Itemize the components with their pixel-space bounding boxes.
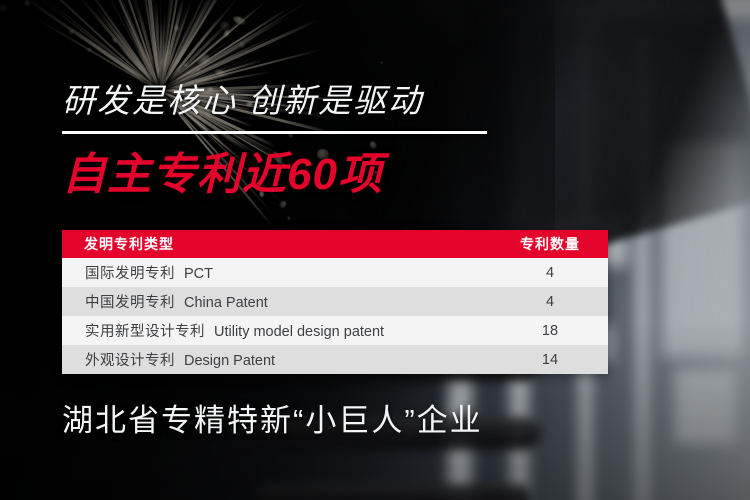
banner-subline: 自主专利近60项	[62, 148, 383, 202]
cell-patent-count: 4	[492, 294, 608, 310]
column-header-patent-count: 专利数量	[492, 234, 608, 254]
banner-headline: 研发是核心 创新是驱动	[62, 81, 423, 121]
patent-type-en: PCT	[184, 266, 213, 282]
patent-table-header-row: 发明专利类型 专利数量	[62, 230, 608, 258]
banner-stage: 研发是核心 创新是驱动 自主专利近60项 发明专利类型 专利数量 国际发明专利P…	[0, 0, 750, 500]
cell-patent-type: 外观设计专利Design Patent	[62, 349, 492, 370]
table-row: 国际发明专利PCT4	[62, 258, 608, 287]
patent-type-cn: 中国发明专利	[85, 295, 175, 311]
cell-patent-count: 18	[492, 323, 608, 339]
banner-tagline: 湖北省专精特新“小巨人”企业	[62, 401, 483, 441]
cell-patent-type: 中国发明专利China Patent	[62, 291, 492, 312]
column-header-patent-type: 发明专利类型	[62, 234, 492, 254]
patent-table-body: 国际发明专利PCT4中国发明专利China Patent4实用新型设计专利Uti…	[62, 258, 608, 374]
cell-patent-type: 国际发明专利PCT	[62, 262, 492, 283]
table-row: 中国发明专利China Patent4	[62, 287, 608, 316]
cell-patent-count: 4	[492, 265, 608, 281]
cell-patent-type: 实用新型设计专利Utility model design patent	[62, 320, 492, 341]
patent-type-cn: 国际发明专利	[85, 266, 175, 282]
table-row: 外观设计专利Design Patent14	[62, 345, 608, 374]
patent-table: 发明专利类型 专利数量 国际发明专利PCT4中国发明专利China Patent…	[62, 230, 608, 374]
patent-type-cn: 实用新型设计专利	[85, 324, 205, 340]
patent-type-en: Utility model design patent	[214, 324, 384, 340]
cell-patent-count: 14	[492, 352, 608, 368]
patent-type-en: Design Patent	[184, 353, 275, 369]
patent-type-en: China Patent	[184, 295, 268, 311]
table-row: 实用新型设计专利Utility model design patent18	[62, 316, 608, 345]
headline-divider	[62, 131, 487, 134]
patent-type-cn: 外观设计专利	[85, 353, 175, 369]
banner-content: 研发是核心 创新是驱动 自主专利近60项 发明专利类型 专利数量 国际发明专利P…	[0, 0, 750, 500]
